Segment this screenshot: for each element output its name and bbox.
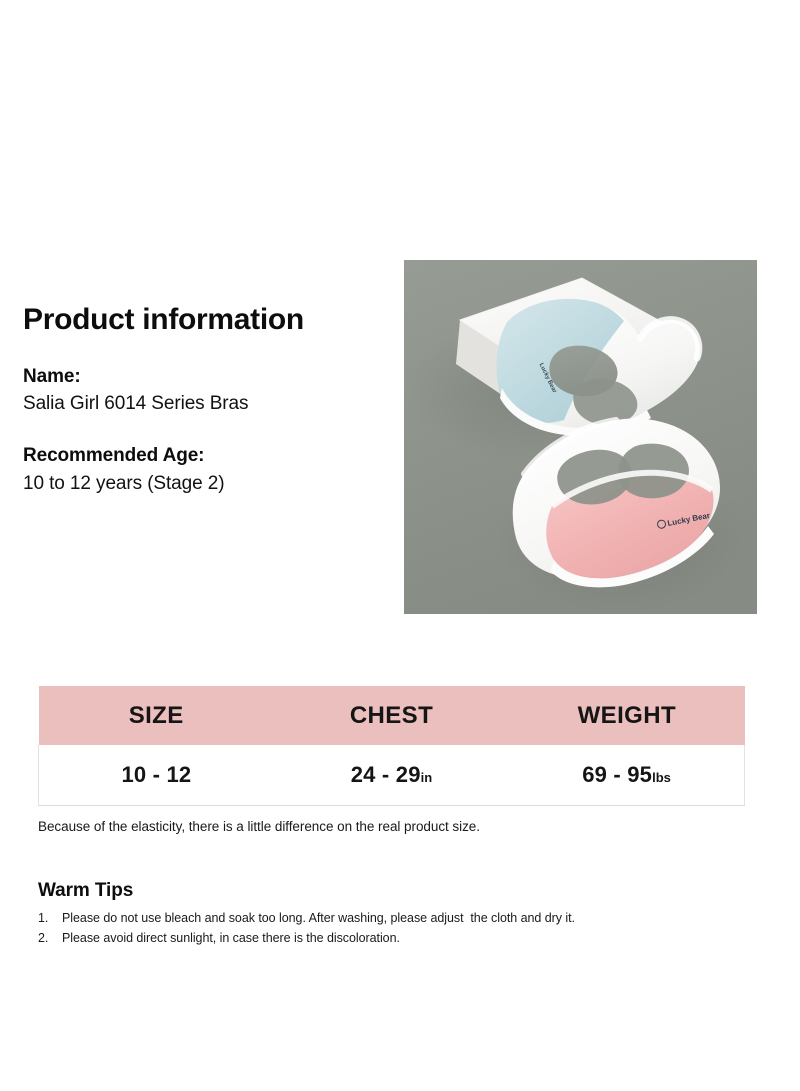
size-chart-note: Because of the elasticity, there is a li…	[38, 818, 738, 837]
field-name-label: Name:	[23, 364, 393, 390]
product-photo: Lucky Bear Lucky Bear	[404, 260, 757, 614]
product-photo-illustration: Lucky Bear Lucky Bear	[404, 260, 757, 614]
cell-chest: 24 - 29in	[274, 745, 509, 806]
cell-size: 10 - 12	[39, 745, 274, 806]
list-item-number: 2.	[38, 928, 62, 948]
field-name-value: Salia Girl 6014 Series Bras	[23, 391, 393, 417]
cell-size-value: 10 - 12	[121, 762, 191, 787]
table-header-row: SIZE CHEST WEIGHT	[39, 686, 745, 745]
size-chart-body: 10 - 12 24 - 29in 69 - 95lbs	[39, 745, 745, 806]
warm-tips-title: Warm Tips	[38, 880, 758, 902]
size-chart-table: SIZE CHEST WEIGHT 10 - 12 24 - 29in 69 -…	[38, 686, 745, 806]
cell-weight-unit: lbs	[652, 770, 671, 785]
list-item: 1. Please do not use bleach and soak too…	[38, 908, 758, 928]
field-recommended-age: Recommended Age: 10 to 12 years (Stage 2…	[23, 443, 393, 496]
cell-weight-value: 69 - 95	[582, 762, 652, 787]
column-header-chest: CHEST	[274, 686, 509, 745]
list-item-text: Please do not use bleach and soak too lo…	[62, 908, 758, 928]
field-recommended-age-label: Recommended Age:	[23, 443, 393, 469]
list-item-number: 1.	[38, 908, 62, 928]
list-item: 2. Please avoid direct sunlight, in case…	[38, 928, 758, 948]
table-row: 10 - 12 24 - 29in 69 - 95lbs	[39, 745, 745, 806]
column-header-weight: WEIGHT	[509, 686, 744, 745]
field-name: Name: Salia Girl 6014 Series Bras	[23, 364, 393, 417]
cell-chest-value: 24 - 29	[351, 762, 421, 787]
list-item-text: Please avoid direct sunlight, in case th…	[62, 928, 758, 948]
field-recommended-age-value: 10 to 12 years (Stage 2)	[23, 471, 393, 497]
warm-tips-section: Warm Tips 1. Please do not use bleach an…	[38, 880, 758, 949]
cell-chest-unit: in	[421, 770, 433, 785]
column-header-size: SIZE	[39, 686, 274, 745]
product-info-block: Product information Name: Salia Girl 601…	[23, 303, 393, 522]
warm-tips-list: 1. Please do not use bleach and soak too…	[38, 908, 758, 949]
page-title: Product information	[23, 303, 393, 338]
cell-weight: 69 - 95lbs	[509, 745, 744, 806]
size-chart-header: SIZE CHEST WEIGHT	[39, 686, 745, 745]
